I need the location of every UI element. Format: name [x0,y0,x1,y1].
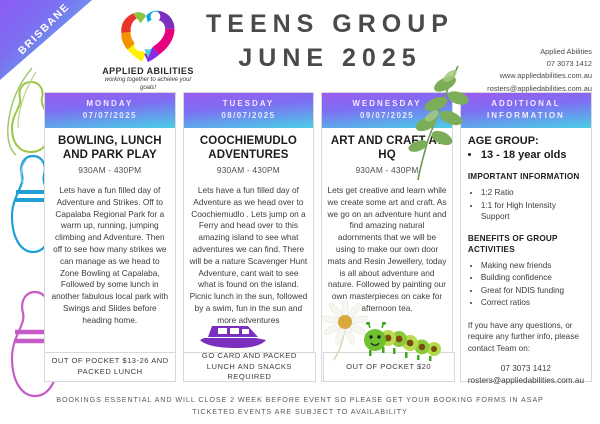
brand-logo-block: APPLIED ABILITIES working together to ac… [96,6,200,92]
ribbon-triangle [0,0,92,80]
column-header-tuesday: TUESDAY 08/07/2025 [184,93,314,128]
age-group-value: 13 - 18 year olds [481,149,584,161]
list-item: 1:1 for High Intensity Support [481,200,584,223]
benefits-list: Making new friends Building confidence G… [481,260,584,309]
header-email[interactable]: rosters@appliedabilities.com.au [487,83,592,95]
list-item: Great for NDIS funding [481,285,584,296]
column-footer-tags: OUT OF POCKET $13-26 AND PACKED LUNCH GO… [44,352,592,382]
day-date: 07/07/2025 [49,110,171,122]
column-header-monday: MONDAY 07/07/2025 [45,93,175,128]
column-body-monday: BOWLING, LUNCH AND PARK PLAY 930AM - 430… [45,128,175,381]
day-of-week: TUESDAY [188,98,310,110]
bookings-note-line-2: TICKETED EVENTS ARE SUBJECT TO AVAILABIL… [0,406,600,418]
important-information-heading: IMPORTANT INFORMATION [468,171,584,182]
logo-tagline: working together to achieve your goals! [96,77,200,92]
title-line-2: JUNE 2025 [205,42,455,76]
column-wednesday: WEDNESDAY 09/07/2025 ART AND CRAFT AT HQ… [321,92,453,382]
list-item: Making new friends [481,260,584,271]
tag-spacer [462,352,592,382]
tag-monday: OUT OF POCKET $13-26 AND PACKED LUNCH [44,352,176,382]
bookings-note-line-1: BOOKINGS ESSENTIAL AND WILL CLOSE 2 WEEK… [0,394,600,406]
logo-name: APPLIED ABILITIES [96,66,200,76]
page-title: TEENS GROUP JUNE 2025 [205,8,455,76]
activity-title: COOCHIEMUDLO ADVENTURES [189,134,309,162]
day-date: 08/07/2025 [188,110,310,122]
benefits-heading: BENEFITS OF GROUP ACTIVITIES [468,233,584,255]
title-line-1: TEENS GROUP [205,8,455,42]
tag-wednesday: OUT OF POCKET $20 [323,352,455,382]
header-contact-block: Applied Abilities 07 3073 1412 www.appli… [487,46,592,95]
column-additional-information: ADDITIONAL INFORMATION AGE GROUP: 13 - 1… [460,92,592,382]
column-header-wednesday: WEDNESDAY 09/07/2025 [322,93,452,128]
day-columns: MONDAY 07/07/2025 BOWLING, LUNCH AND PAR… [44,92,592,382]
additional-head-line-1: ADDITIONAL [465,98,587,110]
day-date: 09/07/2025 [326,110,448,122]
activity-time: 930AM - 430PM [327,165,447,175]
list-item: Building confidence [481,272,584,283]
flyer-page: BRISBANE APPLIED ABILITIES working toget… [0,0,600,424]
column-body-tuesday: COOCHIEMUDLO ADVENTURES 930AM - 430PM Le… [184,128,314,381]
bookings-note: BOOKINGS ESSENTIAL AND WILL CLOSE 2 WEEK… [0,394,600,418]
column-tuesday: TUESDAY 08/07/2025 COOCHIEMUDLO ADVENTUR… [183,92,315,382]
column-body-wednesday: ART AND CRAFT AT HQ 930AM - 430PM Lets g… [322,128,452,381]
activity-description: Lets have a fun filled day of Adventure … [189,185,309,326]
day-of-week: WEDNESDAY [326,98,448,110]
activity-description: Lets have a fun filled day of Adventure … [50,185,170,326]
tag-tuesday: GO CARD AND PACKED LUNCH AND SNACKS REQU… [183,352,315,382]
activity-title: ART AND CRAFT AT HQ [327,134,447,162]
header-phone: 07 3073 1412 [487,58,592,70]
day-of-week: MONDAY [49,98,171,110]
activity-description: Lets get creative and learn while we cre… [327,185,447,315]
column-header-additional: ADDITIONAL INFORMATION [461,93,591,128]
header-website[interactable]: www.appliedabilities.com.au [487,70,592,82]
list-item: Correct ratios [481,297,584,308]
activity-title: BOWLING, LUNCH AND PARK PLAY [50,134,170,162]
column-monday: MONDAY 07/07/2025 BOWLING, LUNCH AND PAR… [44,92,176,382]
list-item: 1:2 Ratio [481,187,584,198]
activity-time: 930AM - 430PM [189,165,309,175]
questions-note: If you have any questions, or require an… [468,320,584,356]
activity-time: 930AM - 430PM [50,165,170,175]
rainbow-heart-hands-logo-icon [117,6,179,64]
brisbane-corner-ribbon: BRISBANE [0,0,92,80]
important-information-list: 1:2 Ratio 1:1 for High Intensity Support [481,187,584,222]
additional-head-line-2: INFORMATION [465,110,587,122]
header-org-name: Applied Abilities [487,46,592,58]
age-group-label: AGE GROUP: [468,135,584,147]
